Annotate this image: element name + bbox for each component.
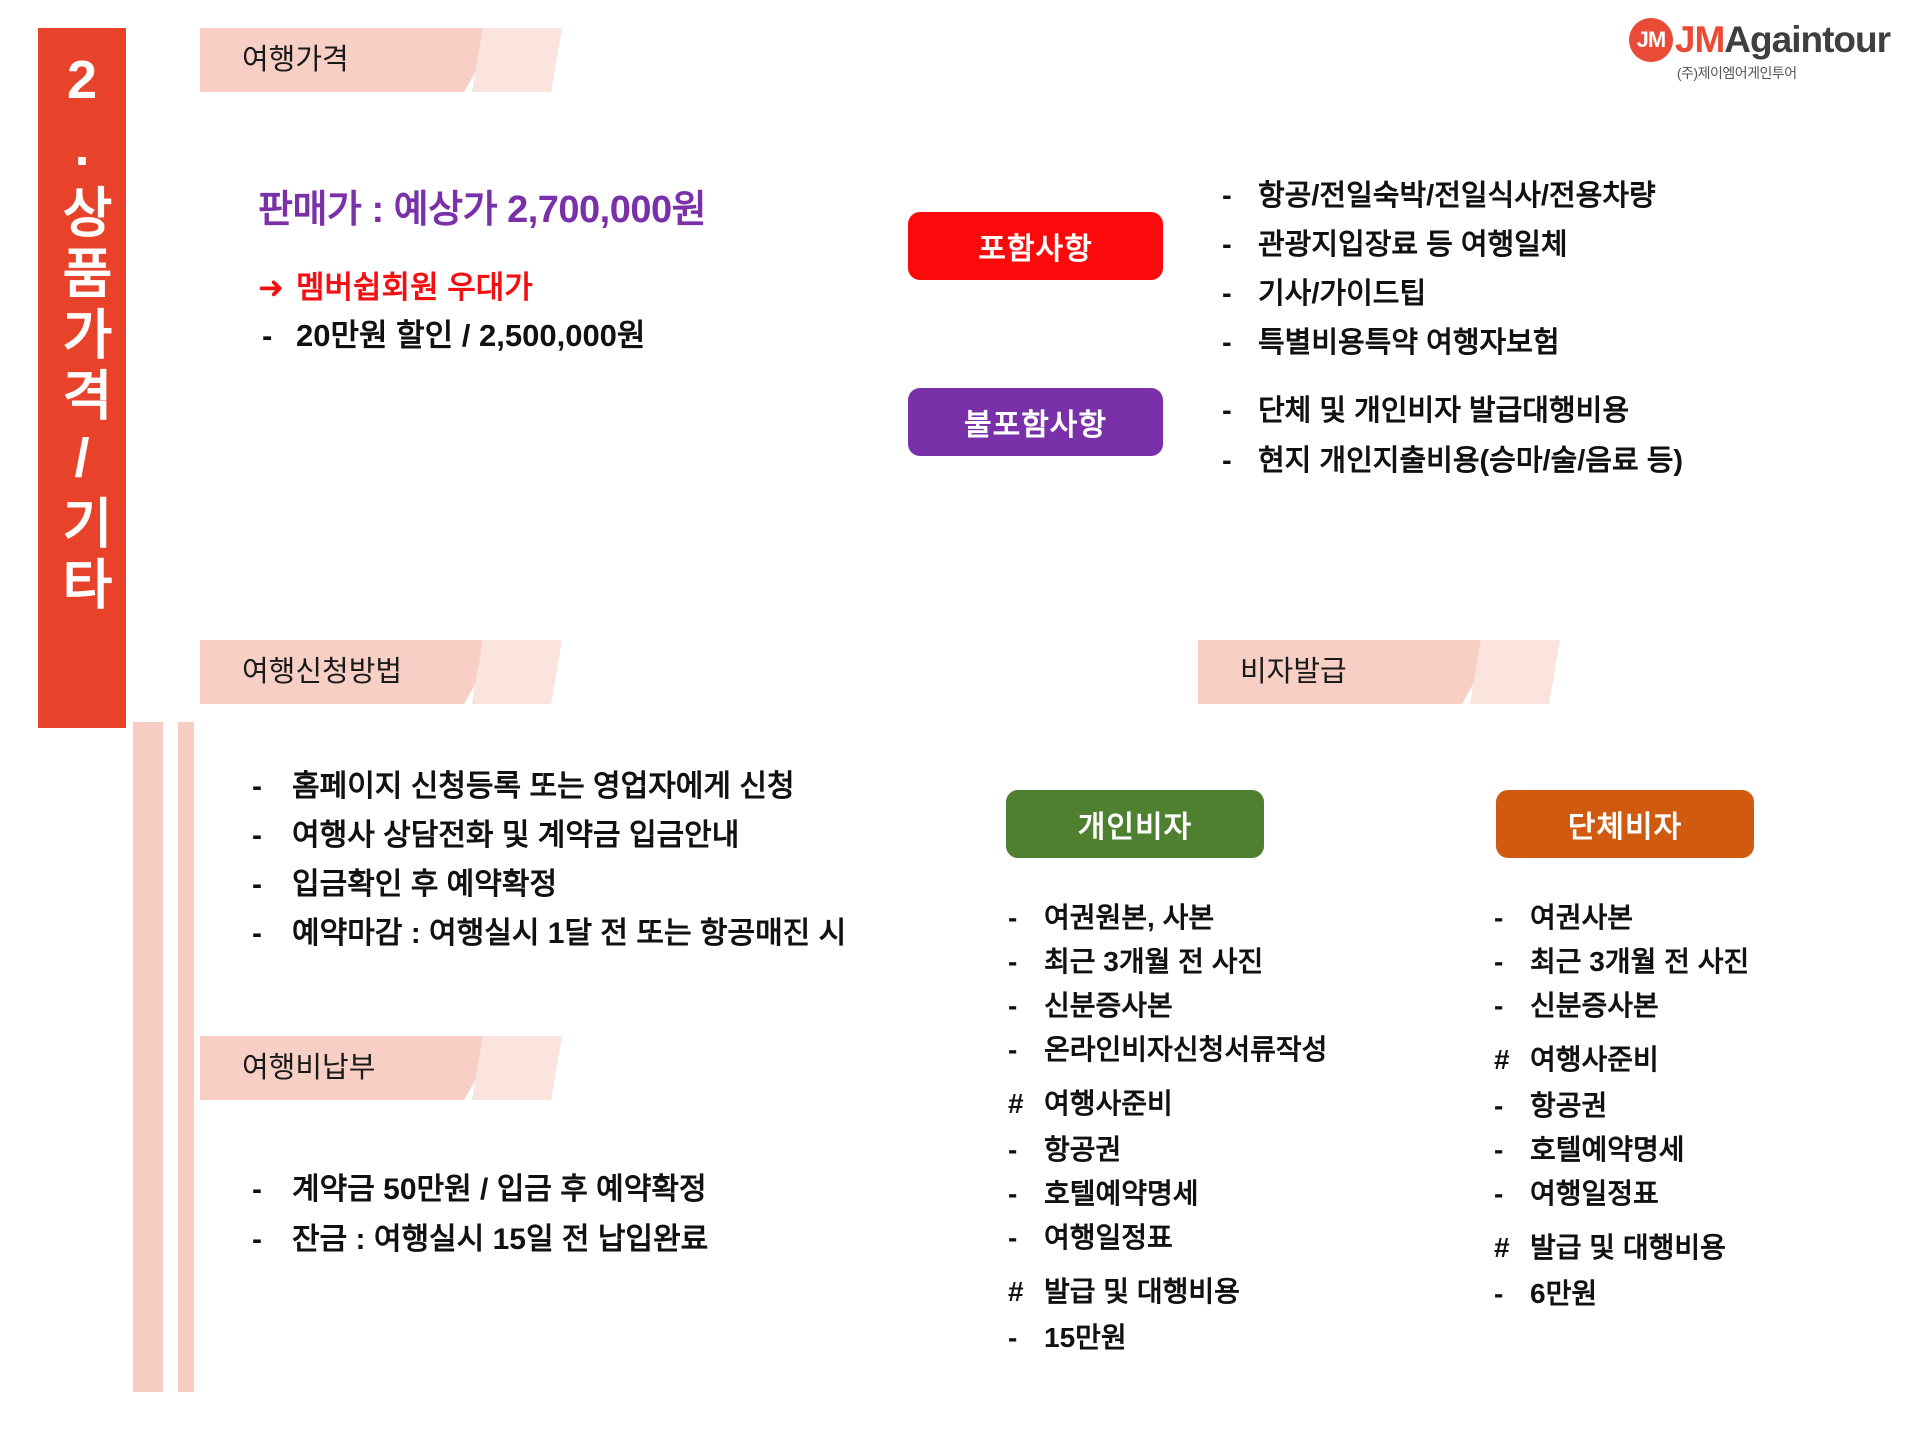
logo-wordmark-row: JM JM Againtour [1629,18,1890,62]
list-item-label: 홈페이지 신청등록 또는 영업자에게 신청 [292,762,795,811]
bullet-dash-icon: - [1494,1172,1530,1216]
decorative-bar-thin [178,722,194,1392]
list-item-label: 호텔예약명세 [1530,1128,1685,1172]
list-item-label: 호텔예약명세 [1044,1172,1199,1216]
list-subheading-label: 여행사준비 [1044,1082,1173,1126]
section-header-apply: 여행신청방법 [200,640,565,704]
list-item: -호텔예약명세 [1008,1172,1327,1216]
list-item: -항공권 [1494,1084,1749,1128]
bullet-dash-icon: - [1494,1128,1530,1172]
included-list: -항공/전일숙박/전일식사/전용차량 -관광지입장료 등 여행일체 -기사/가이… [1222,172,1656,368]
list-item: -호텔예약명세 [1494,1128,1749,1172]
hash-icon: # [1494,1038,1530,1082]
bullet-dash-icon: - [1008,1028,1044,1072]
bullet-dash-icon: - [1008,1216,1044,1260]
list-item-label: 현지 개인지출비용(승마/술/음료 등) [1258,436,1683,486]
logo-name-first: JM [1675,19,1724,61]
personal-visa-badge: 개인비자 [1006,790,1264,858]
price-membership-label: 멤버쉽회원 우대가 [296,270,533,305]
list-item-label: 여권원본, 사본 [1044,896,1214,940]
arrow-right-icon: ➜ [258,270,284,305]
list-item-label: 신분증사본 [1044,984,1173,1028]
list-item-label: 예약마감 : 여행실시 1달 전 또는 항공매진 시 [292,909,846,958]
section-title-apply: 여행신청방법 [242,640,402,704]
included-badge: 포함사항 [908,212,1163,280]
list-item: -계약금 50만원 / 입금 후 예약확정 [252,1165,708,1215]
excluded-badge: 불포함사항 [908,388,1163,456]
list-item-label: 관광지입장료 등 여행일체 [1258,221,1568,270]
personal-visa-list: -여권원본, 사본 -최근 3개월 전 사진 -신분증사본 -온라인비자신청서류… [1008,896,1327,1360]
list-item: -온라인비자신청서류작성 [1008,1028,1327,1072]
excluded-list: -단체 및 개인비자 발급대행비용 -현지 개인지출비용(승마/술/음료 등) [1222,386,1683,486]
bullet-dash-icon: - [252,1165,292,1215]
list-item: -최근 3개월 전 사진 [1494,940,1749,984]
list-item: -신분증사본 [1008,984,1327,1028]
list-item-label: 항공권 [1044,1128,1121,1172]
hash-icon: # [1008,1082,1044,1126]
list-item-label: 항공권 [1530,1084,1607,1128]
list-item-label: 입금확인 후 예약확정 [292,860,557,909]
bullet-dash-icon: - [1222,221,1258,270]
list-item: -기사/가이드팁 [1222,270,1656,319]
list-item: -신분증사본 [1494,984,1749,1028]
section-header-price: 여행가격 [200,28,565,92]
list-item-label: 잔금 : 여행실시 15일 전 납입완료 [292,1215,708,1265]
price-main-value: 판매가 : 예상가 2,700,000원 [258,178,706,233]
list-item-label: 최근 3개월 전 사진 [1044,940,1263,984]
list-item-label: 여행일정표 [1530,1172,1659,1216]
list-item: -여행일정표 [1008,1216,1327,1260]
section-title-payment: 여행비납부 [242,1036,375,1100]
list-item: -6만원 [1494,1272,1749,1316]
chapter-tab: 2.상품가격/기타 [38,28,126,728]
company-logo: JM JM Againtour (주)제이엠어게인투어 [1629,18,1890,83]
list-item-label: 최근 3개월 전 사진 [1530,940,1749,984]
price-discount-line: -20만원 할인 / 2,500,000원 [262,310,645,355]
section-header-band-light [1470,640,1560,704]
price-membership-line: ➜멤버쉽회원 우대가 [258,262,533,307]
section-title-price: 여행가격 [242,28,349,92]
bullet-dash-icon: - [1008,896,1044,940]
section-header-payment: 여행비납부 [200,1036,565,1100]
group-visa-badge: 단체비자 [1496,790,1754,858]
group-visa-list: -여권사본 -최근 3개월 전 사진 -신분증사본 #여행사준비 -항공권 -호… [1494,896,1749,1316]
bullet-dash-icon: - [1008,1128,1044,1172]
list-item: -항공권 [1008,1128,1327,1172]
list-item: -최근 3개월 전 사진 [1008,940,1327,984]
list-item-label: 단체 및 개인비자 발급대행비용 [1258,386,1629,436]
list-item-label: 기사/가이드팁 [1258,270,1426,319]
list-item-label: 특별비용특약 여행자보험 [1258,319,1560,368]
list-subheading: #발급 및 대행비용 [1494,1226,1749,1270]
bullet-dash-icon: - [262,318,296,354]
bullet-dash-icon: - [1222,436,1258,486]
bullet-dash-icon: - [1494,896,1530,940]
bullet-dash-icon: - [1222,319,1258,368]
list-item: -여행사 상담전화 및 계약금 입금안내 [252,811,846,860]
section-header-visa: 비자발급 [1198,640,1563,704]
list-item-label: 여행일정표 [1044,1216,1173,1260]
bullet-dash-icon: - [1222,172,1258,221]
section-header-band-light [472,640,562,704]
list-subheading-label: 발급 및 대행비용 [1044,1270,1240,1314]
section-header-band-light [472,28,562,92]
logo-name-second: Againtour [1724,19,1890,61]
list-item: -입금확인 후 예약확정 [252,860,846,909]
list-item: -여행일정표 [1494,1172,1749,1216]
list-item: -잔금 : 여행실시 15일 전 납입완료 [252,1215,708,1265]
list-subheading: #여행사준비 [1494,1038,1749,1082]
jm-circle-icon: JM [1629,18,1673,62]
list-item: -예약마감 : 여행실시 1달 전 또는 항공매진 시 [252,909,846,958]
bullet-dash-icon: - [1008,984,1044,1028]
bullet-dash-icon: - [1494,1272,1530,1316]
payment-list: -계약금 50만원 / 입금 후 예약확정 -잔금 : 여행실시 15일 전 납… [252,1165,708,1265]
list-item-label: 6만원 [1530,1272,1597,1316]
bullet-dash-icon: - [1008,1172,1044,1216]
bullet-dash-icon: - [1008,1316,1044,1360]
list-item-label: 여권사본 [1530,896,1633,940]
chapter-tab-label: 2.상품가격/기타 [55,50,109,617]
price-discount-value: 20만원 할인 / 2,500,000원 [296,318,645,353]
hash-icon: # [1008,1270,1044,1314]
bullet-dash-icon: - [252,762,292,811]
bullet-dash-icon: - [1222,270,1258,319]
logo-subtitle: (주)제이엠어게인투어 [1677,63,1797,83]
list-item-label: 신분증사본 [1530,984,1659,1028]
bullet-dash-icon: - [252,909,292,958]
list-item: -항공/전일숙박/전일식사/전용차량 [1222,172,1656,221]
list-item: -관광지입장료 등 여행일체 [1222,221,1656,270]
list-item: -현지 개인지출비용(승마/술/음료 등) [1222,436,1683,486]
bullet-dash-icon: - [1494,940,1530,984]
bullet-dash-icon: - [252,811,292,860]
list-item-label: 여행사 상담전화 및 계약금 입금안내 [292,811,739,860]
bullet-dash-icon: - [252,860,292,909]
hash-icon: # [1494,1226,1530,1270]
list-item-label: 항공/전일숙박/전일식사/전용차량 [1258,172,1656,221]
section-title-visa: 비자발급 [1240,640,1347,704]
section-header-band-light [472,1036,562,1100]
apply-list: -홈페이지 신청등록 또는 영업자에게 신청 -여행사 상담전화 및 계약금 입… [252,762,846,958]
decorative-bar-wide [133,722,163,1392]
bullet-dash-icon: - [1222,386,1258,436]
bullet-dash-icon: - [252,1215,292,1265]
bullet-dash-icon: - [1494,984,1530,1028]
list-item: -특별비용특약 여행자보험 [1222,319,1656,368]
list-item: -여권사본 [1494,896,1749,940]
list-item: -여권원본, 사본 [1008,896,1327,940]
list-item: -15만원 [1008,1316,1327,1360]
list-item-label: 계약금 50만원 / 입금 후 예약확정 [292,1165,707,1215]
list-subheading: #발급 및 대행비용 [1008,1270,1327,1314]
list-item: -홈페이지 신청등록 또는 영업자에게 신청 [252,762,846,811]
list-subheading: #여행사준비 [1008,1082,1327,1126]
list-subheading-label: 여행사준비 [1530,1038,1659,1082]
list-subheading-label: 발급 및 대행비용 [1530,1226,1726,1270]
list-item-label: 온라인비자신청서류작성 [1044,1028,1327,1072]
bullet-dash-icon: - [1494,1084,1530,1128]
list-item-label: 15만원 [1044,1316,1127,1360]
list-item: -단체 및 개인비자 발급대행비용 [1222,386,1683,436]
bullet-dash-icon: - [1008,940,1044,984]
